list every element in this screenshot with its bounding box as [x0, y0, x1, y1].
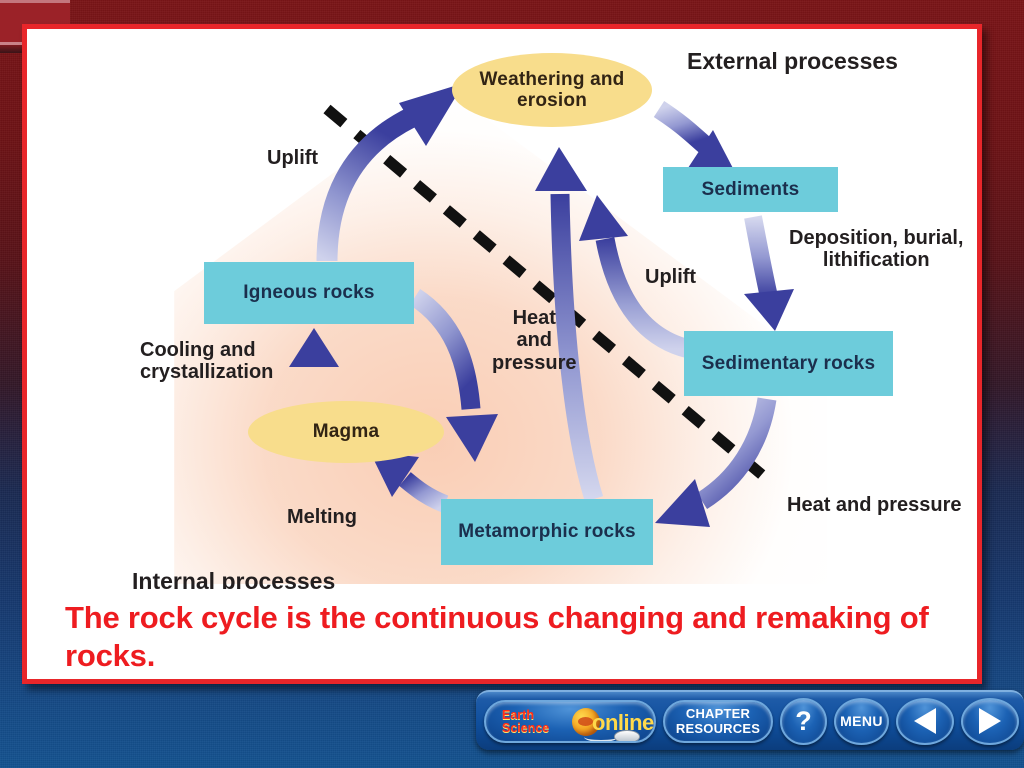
- rock-cycle-diagram: Weathering and erosion Sediments Sedimen…: [27, 29, 977, 589]
- node-magma[interactable]: Magma: [248, 401, 444, 463]
- node-igneous-rocks[interactable]: Igneous rocks: [204, 262, 414, 324]
- earth-science-online-button[interactable]: Earth Science online: [484, 700, 656, 743]
- earth-science-wordmark: Earth Science: [502, 709, 549, 735]
- content-panel: Weathering and erosion Sediments Sedimen…: [22, 24, 982, 684]
- computer-mouse-icon: [614, 730, 640, 743]
- next-slide-button[interactable]: [961, 698, 1019, 745]
- menu-button[interactable]: MENU: [834, 698, 889, 745]
- node-metamorphic-rocks[interactable]: Metamorphic rocks: [441, 499, 653, 565]
- earth-science-line1: Earth: [502, 709, 549, 722]
- arrow-sedimentary-to-metamorphic: [655, 399, 767, 527]
- arrow-weathering-to-sediments: [659, 109, 736, 174]
- question-mark-icon: ?: [795, 706, 812, 737]
- triangle-left-icon: [914, 708, 936, 734]
- label-internal-processes: Internal processes: [132, 569, 335, 589]
- earth-science-line2: Science: [502, 722, 549, 735]
- navigation-bar: Earth Science online CHAPTER RESOURCES ?…: [476, 690, 1024, 750]
- label-uplift-right: Uplift: [645, 266, 696, 288]
- triangle-right-icon: [979, 708, 1001, 734]
- arrow-deposition-burial-lithification: [744, 217, 794, 331]
- slide-caption: The rock cycle is the continuous changin…: [65, 599, 955, 675]
- menu-label: MENU: [840, 713, 883, 729]
- node-weathering-and-erosion[interactable]: Weathering and erosion: [452, 53, 652, 127]
- previous-slide-button[interactable]: [896, 698, 954, 745]
- label-deposition-burial-lithification: Deposition, burial, lithification: [789, 227, 963, 272]
- mouse-cord-icon: [584, 732, 618, 742]
- help-button[interactable]: ?: [780, 698, 827, 745]
- chapter-resources-button[interactable]: CHAPTER RESOURCES: [663, 700, 773, 743]
- label-heat-and-pressure-center: Heat and pressure: [492, 307, 577, 374]
- slide-canvas: Weathering and erosion Sediments Sedimen…: [0, 0, 1024, 768]
- node-sedimentary-rocks[interactable]: Sedimentary rocks: [684, 331, 893, 396]
- label-melting: Melting: [287, 506, 357, 528]
- label-cooling-and-crystallization: Cooling and crystallization: [140, 339, 273, 384]
- arrow-uplift-igneous-to-weathering: [327, 83, 464, 261]
- node-sediments[interactable]: Sediments: [663, 167, 838, 212]
- chapter-resources-line2: RESOURCES: [676, 721, 760, 736]
- label-heat-and-pressure-right: Heat and pressure: [787, 494, 962, 516]
- arrow-cooling-magma-to-igneous: [289, 328, 339, 404]
- label-external-processes: External processes: [687, 49, 898, 75]
- label-uplift-left: Uplift: [267, 147, 318, 169]
- chapter-resources-line1: CHAPTER: [676, 706, 760, 721]
